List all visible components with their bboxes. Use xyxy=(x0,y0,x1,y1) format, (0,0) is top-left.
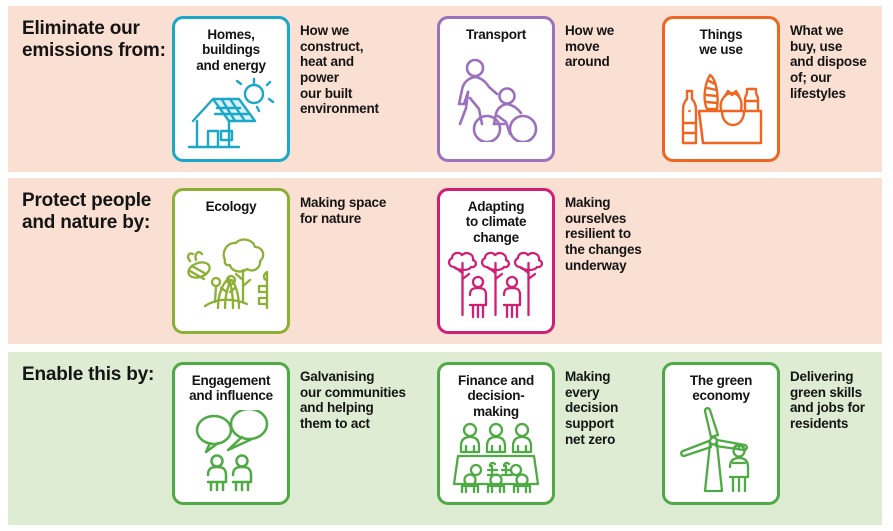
card-engagement-and-influence[interactable]: Engagement and influence xyxy=(172,362,290,505)
card-description: How we construct, heat and power our bui… xyxy=(290,16,437,117)
wind-turbine-worker-icon xyxy=(665,404,777,503)
card-title: Homes, buildings and energy xyxy=(193,27,269,73)
card-description: How we move around xyxy=(555,16,662,70)
row-label-eliminate: Eliminate our emissions from: xyxy=(8,6,172,63)
card-ecology[interactable]: Ecology xyxy=(172,188,290,334)
row-label-protect: Protect people and nature by: xyxy=(8,178,172,235)
group-engagement-and-influence: Engagement and influence xyxy=(172,362,437,505)
card-title: The green economy xyxy=(687,373,755,404)
card-title: Ecology xyxy=(203,199,260,214)
group-finance-and-decision-making: Finance and decision- making xyxy=(437,362,662,505)
card-description: Delivering green skills and jobs for res… xyxy=(780,362,882,432)
card-description: Making every decision support net zero xyxy=(555,362,662,447)
group-transport: Transport xyxy=(437,16,662,162)
group-homes-buildings-energy: Homes, buildings and energy xyxy=(172,16,437,162)
card-title: Things we use xyxy=(696,27,746,58)
row-enable-this-by: Enable this by: Engagement and influence xyxy=(8,352,882,525)
card-description: Making ourselves resilient to the change… xyxy=(555,188,662,273)
group-the-green-economy: The green economy xyxy=(662,362,882,505)
row-label-enable: Enable this by: xyxy=(8,352,172,386)
card-homes-buildings-energy[interactable]: Homes, buildings and energy xyxy=(172,16,290,162)
row-eliminate-emissions: Eliminate our emissions from: Homes, bui… xyxy=(8,6,882,172)
card-the-green-economy[interactable]: The green economy xyxy=(662,362,780,505)
card-description: Galvanising our communities and helping … xyxy=(290,362,437,432)
row-1-groups: Homes, buildings and energy xyxy=(172,6,882,162)
meeting-table-pounds-icon xyxy=(440,419,552,502)
house-solar-panel-icon xyxy=(175,73,287,159)
card-things-we-use[interactable]: Things we use xyxy=(662,16,780,162)
group-ecology: Ecology xyxy=(172,188,437,334)
card-title: Transport xyxy=(463,27,529,42)
card-finance-and-decision-making[interactable]: Finance and decision- making xyxy=(437,362,555,505)
card-title: Finance and decision- making xyxy=(455,373,537,419)
group-things-we-use: Things we use xyxy=(662,16,882,162)
infographic-board: Eliminate our emissions from: Homes, bui… xyxy=(0,0,893,531)
pedestrian-cyclist-icon xyxy=(440,42,552,159)
row-3-groups: Engagement and influence xyxy=(172,352,882,505)
card-title: Adapting to climate change xyxy=(463,199,530,245)
card-title: Engagement and influence xyxy=(186,373,276,404)
card-description: Making space for nature xyxy=(290,188,437,226)
card-adapting-to-climate-change[interactable]: Adapting to climate change xyxy=(437,188,555,334)
row-protect-people-nature: Protect people and nature by: Ecology xyxy=(8,178,882,344)
speech-bubbles-people-icon xyxy=(175,404,287,503)
group-adapting-to-climate-change: Adapting to climate change xyxy=(437,188,662,334)
card-transport[interactable]: Transport xyxy=(437,16,555,162)
card-description: What we buy, use and dispose of; our lif… xyxy=(780,16,882,101)
row-2-groups: Ecology xyxy=(172,178,882,334)
trees-with-people-icon xyxy=(440,245,552,331)
shopping-bag-groceries-icon xyxy=(665,58,777,160)
tree-bee-wildflowers-icon xyxy=(175,214,287,331)
